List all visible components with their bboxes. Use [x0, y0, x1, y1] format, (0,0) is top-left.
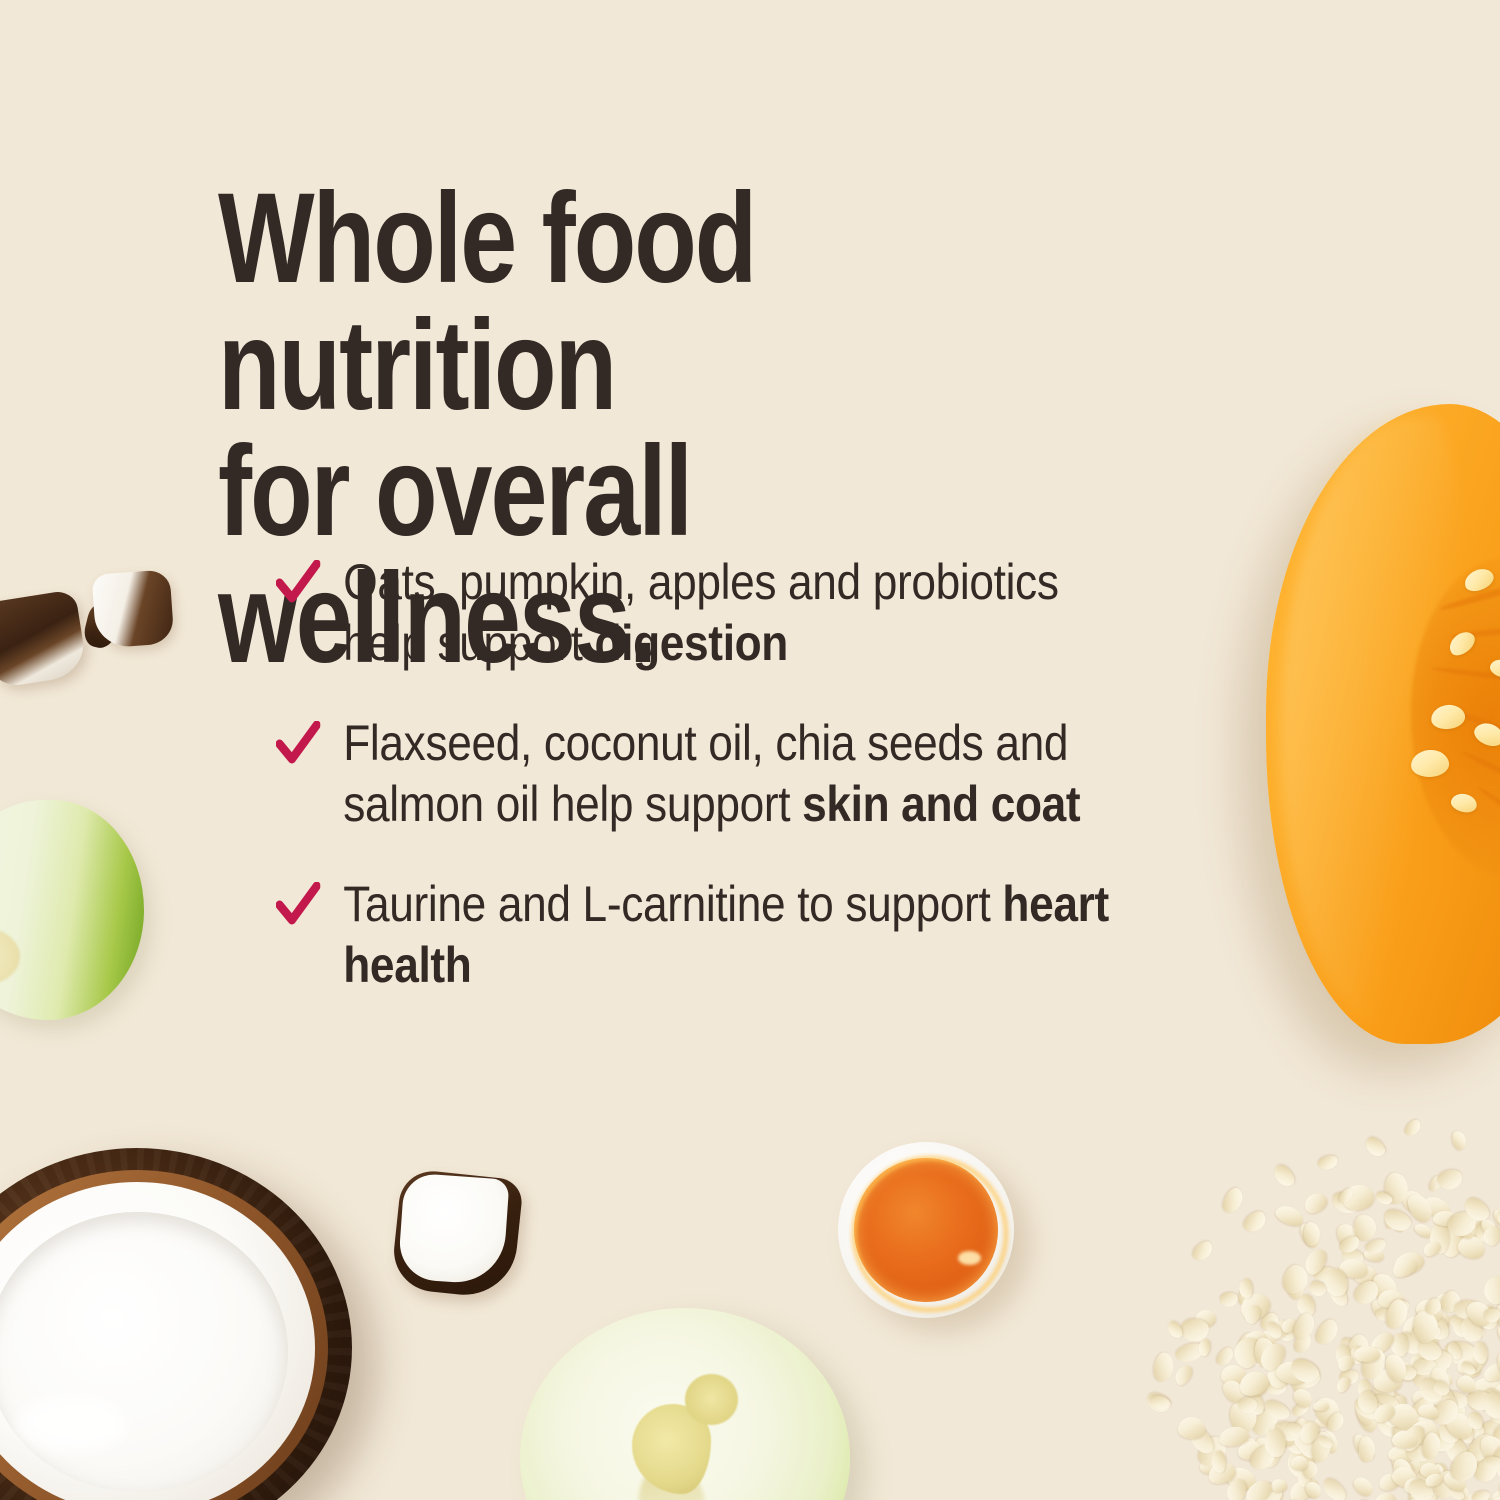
benefit-text: Oats, pumpkin, apples and probiotics hel… — [343, 552, 1125, 673]
oat-flake — [1181, 1319, 1209, 1342]
list-item: Flaxseed, coconut oil, chia seeds and sa… — [276, 713, 1126, 834]
list-item: Taurine and L-carnitine to support heart… — [276, 874, 1126, 995]
oat-flake — [1172, 1363, 1195, 1388]
oat-flake — [1317, 1153, 1340, 1171]
coconut-highlight — [17, 1396, 129, 1452]
oat-flake — [1271, 1478, 1289, 1493]
oil-meniscus — [852, 1156, 1008, 1312]
oat-flake — [1177, 1417, 1204, 1439]
benefit-text: Flaxseed, coconut oil, chia seeds and sa… — [343, 713, 1125, 834]
check-icon — [276, 560, 320, 606]
coconut-bowl-cavity — [0, 1212, 288, 1492]
product-benefits-poster: Whole food nutrition for overall wellnes… — [0, 0, 1500, 1500]
benefit-emphasis: skin and coat — [802, 776, 1080, 832]
pumpkin-half-image — [1266, 404, 1500, 1044]
benefit-emphasis: digestion — [595, 615, 788, 671]
oat-flake — [1471, 1489, 1491, 1500]
apple-half-image — [520, 1308, 850, 1500]
salmon-oil-bowl-image — [838, 1142, 1014, 1318]
oat-flake — [1190, 1238, 1216, 1264]
benefit-text-plain: Taurine and L-carnitine to support — [343, 876, 1002, 932]
oat-flake — [1436, 1167, 1464, 1191]
oat-flake — [1291, 1311, 1318, 1343]
oat-flake — [1362, 1134, 1388, 1160]
benefits-list: Oats, pumpkin, apples and probiotics hel… — [276, 552, 1236, 995]
oat-flake — [1219, 1292, 1239, 1308]
benefit-text: Taurine and L-carnitine to support heart… — [343, 874, 1125, 995]
oat-flake — [1312, 1316, 1342, 1348]
oil-glint — [958, 1251, 981, 1265]
apple-slice-flesh — [0, 800, 144, 1020]
rolled-oats-image — [1134, 1134, 1500, 1500]
check-icon — [276, 721, 320, 767]
oat-flake — [1451, 1129, 1468, 1151]
coconut-chunk-image — [92, 569, 175, 648]
oat-flake — [1220, 1185, 1247, 1216]
oat-flake — [1270, 1162, 1298, 1191]
oat-flake — [1240, 1207, 1270, 1236]
coconut-half-image — [0, 1148, 352, 1500]
apple-half-skin — [513, 1302, 856, 1500]
list-item: Oats, pumpkin, apples and probiotics hel… — [276, 552, 1126, 673]
oat-flake — [1403, 1117, 1424, 1138]
oat-flake — [1319, 1475, 1349, 1500]
oat-flake — [1290, 1456, 1307, 1471]
oat-flake — [1238, 1397, 1258, 1413]
coconut-chunk-image — [396, 1174, 518, 1294]
oat-flake — [1198, 1338, 1212, 1356]
coconut-chunk-image — [0, 589, 88, 689]
apple-slice-image — [0, 800, 144, 1020]
oat-flake — [1301, 1189, 1330, 1216]
oat-flake — [1153, 1352, 1176, 1384]
oat-flake — [1351, 1473, 1377, 1498]
oat-flake — [1354, 1346, 1380, 1362]
check-icon — [276, 882, 320, 928]
